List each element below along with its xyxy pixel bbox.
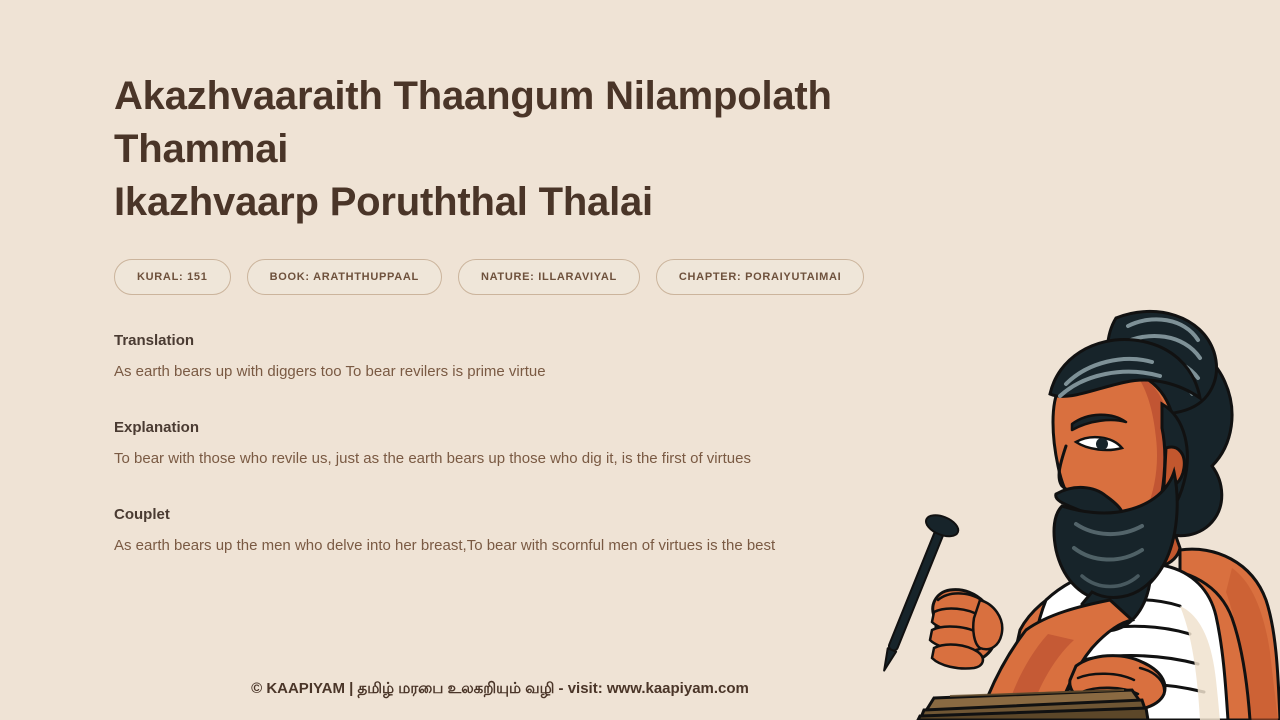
title-line-2: Ikazhvaarp Poruththal Thalai xyxy=(114,180,653,224)
kural-content: Akazhvaaraith Thaangum Nilampolath Thamm… xyxy=(114,70,994,557)
section-translation: Translation As earth bears up with digge… xyxy=(114,331,994,383)
badge-book[interactable]: BOOK: ARATHTHUPPAAL xyxy=(247,259,442,295)
title-line-1: Akazhvaaraith Thaangum Nilampolath Thamm… xyxy=(114,74,832,171)
explanation-heading: Explanation xyxy=(114,418,994,438)
translation-heading: Translation xyxy=(114,331,994,351)
couplet-text: As earth bears up the men who delve into… xyxy=(114,535,994,557)
metadata-badge-row: KURAL: 151 BOOK: ARATHTHUPPAAL NATURE: I… xyxy=(114,259,994,295)
footer-credit-text: © KAAPIYAM | தமிழ் மரபை உலகறியும் வழி - … xyxy=(251,678,1029,700)
badge-chapter[interactable]: CHAPTER: PORAIYUTAIMAI xyxy=(656,259,864,295)
badge-kural[interactable]: KURAL: 151 xyxy=(114,259,231,295)
explanation-text: To bear with those who revile us, just a… xyxy=(114,448,994,470)
kural-card: Akazhvaaraith Thaangum Nilampolath Thamm… xyxy=(0,0,1280,720)
footer: © KAAPIYAM | தமிழ் மரபை உலகறியும் வழி - … xyxy=(0,678,1280,700)
section-couplet: Couplet As earth bears up the men who de… xyxy=(114,505,994,557)
translation-text: As earth bears up with diggers too To be… xyxy=(114,361,994,383)
couplet-heading: Couplet xyxy=(114,505,994,525)
page-title: Akazhvaaraith Thaangum Nilampolath Thamm… xyxy=(114,70,954,229)
section-explanation: Explanation To bear with those who revil… xyxy=(114,418,994,470)
badge-nature[interactable]: NATURE: ILLARAVIYAL xyxy=(458,259,640,295)
